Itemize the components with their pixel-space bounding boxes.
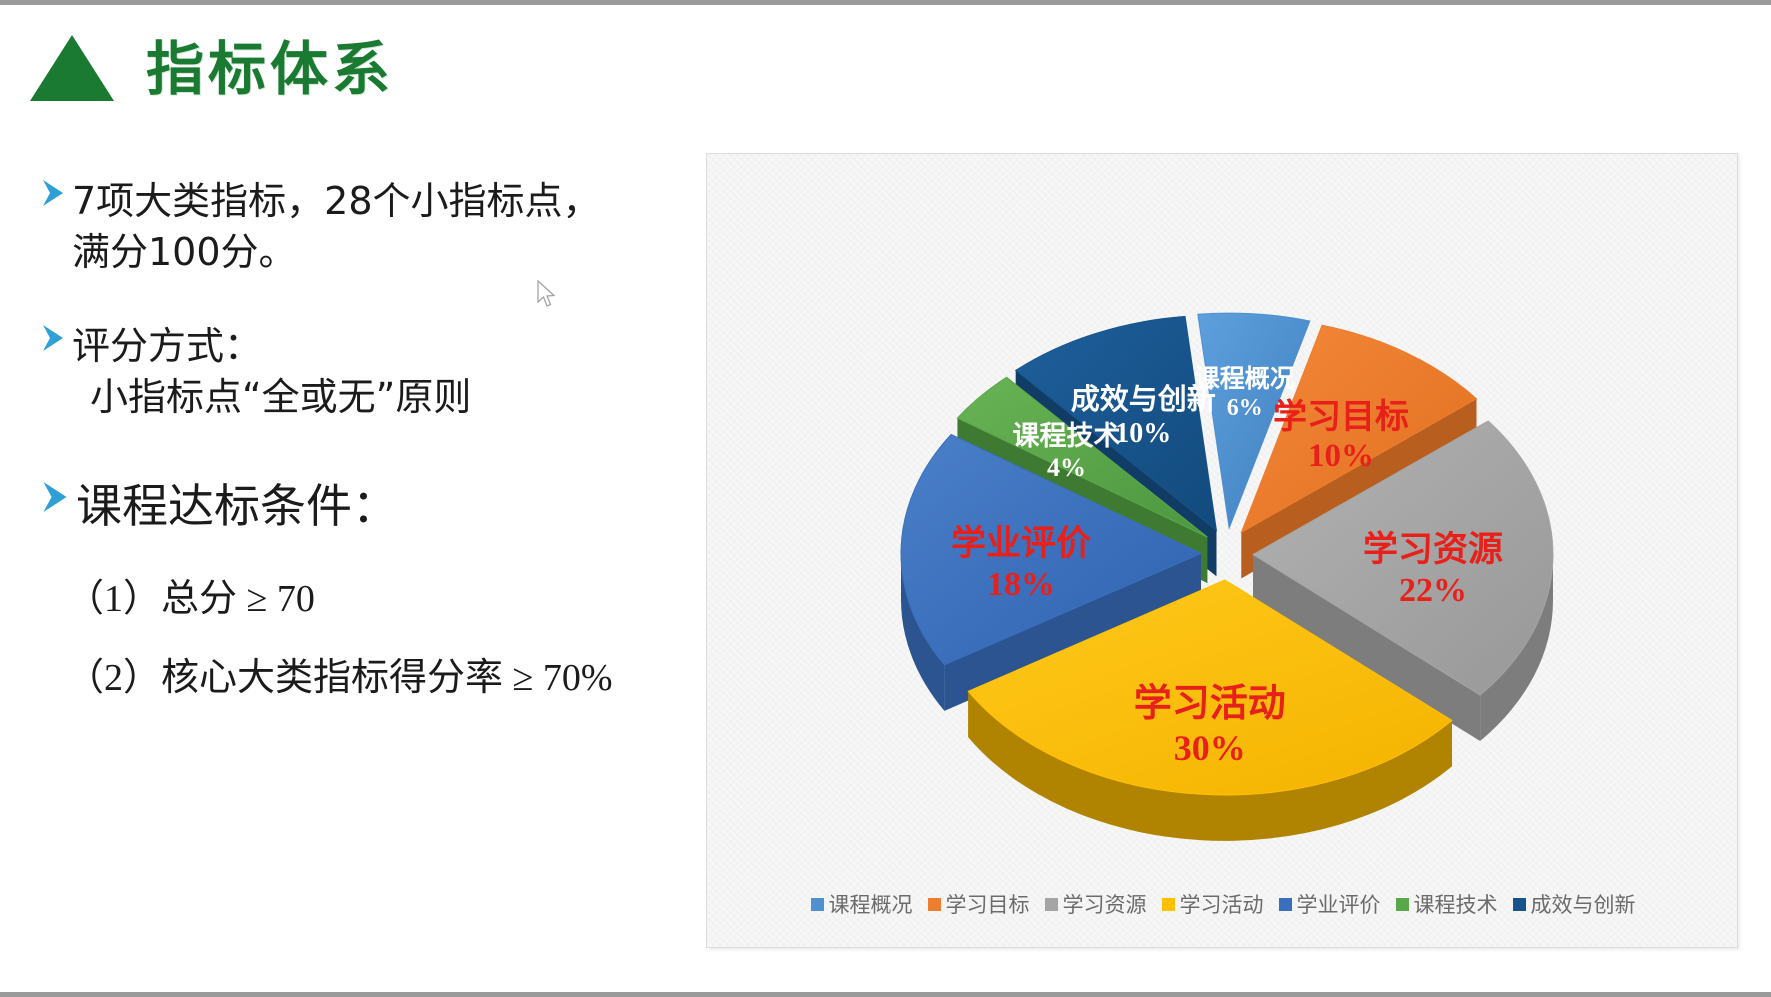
bullet-course-pass-conditions: 课程达标条件： bbox=[40, 477, 680, 537]
screen-edge-top bbox=[0, 0, 1771, 5]
bullet-line-2: 满分100分。 bbox=[72, 230, 297, 274]
pie-chart-panel: 成效与创新 10% 课程技术 4% 课程概况 6% 学习目标 10% 学习资源 … bbox=[706, 153, 1738, 948]
arrow-bullet-icon bbox=[40, 176, 66, 210]
legend-item-course-overview[interactable]: 课程概况 bbox=[811, 889, 913, 919]
legend-label: 学习目标 bbox=[946, 889, 1030, 919]
legend-swatch bbox=[1396, 898, 1409, 911]
chart-legend: 课程概况 学习目标 学习资源 学习活动 学业评价 课程技术 成效与创新 bbox=[707, 889, 1739, 919]
screen-edge-bottom bbox=[0, 992, 1771, 997]
slide-title-row: 指标体系 bbox=[30, 22, 394, 106]
legend-swatch bbox=[811, 898, 824, 911]
legend-swatch bbox=[1513, 898, 1526, 911]
page-title: 指标体系 bbox=[146, 22, 394, 106]
pie-chart-graphic bbox=[707, 154, 1739, 949]
slide-body-text: 7项大类指标，28个小指标点， 满分100分。 评分方式： 小指标点“全或无”原… bbox=[40, 176, 680, 701]
legend-swatch bbox=[1045, 898, 1058, 911]
legend-swatch bbox=[1162, 898, 1175, 911]
legend-item-effect-innovation[interactable]: 成效与创新 bbox=[1513, 889, 1636, 919]
condition-1: （1）总分 ≥ 70 bbox=[66, 567, 680, 622]
legend-label: 学习资源 bbox=[1063, 889, 1147, 919]
bullet-scoring-method: 评分方式： 小指标点“全或无”原则 bbox=[40, 321, 680, 424]
bullet-subline-1: 小指标点“全或无”原则 bbox=[90, 375, 471, 419]
condition-2: （2）核心大类指标得分率 ≥ 70% bbox=[66, 646, 680, 701]
triangle-icon bbox=[30, 35, 114, 101]
legend-item-academic-evaluation[interactable]: 学业评价 bbox=[1279, 889, 1381, 919]
arrow-bullet-icon bbox=[40, 321, 66, 355]
legend-label: 课程概况 bbox=[829, 889, 913, 919]
legend-label: 学业评价 bbox=[1297, 889, 1381, 919]
legend-swatch bbox=[1279, 898, 1292, 911]
legend-label: 学习活动 bbox=[1180, 889, 1264, 919]
bullet-line-1: 评分方式： bbox=[72, 324, 262, 368]
bullet-text: 评分方式： 小指标点“全或无”原则 bbox=[72, 321, 471, 424]
legend-item-learning-activity[interactable]: 学习活动 bbox=[1162, 889, 1264, 919]
legend-label: 课程技术 bbox=[1414, 889, 1498, 919]
bullet-line-1: 7项大类指标，28个小指标点， bbox=[72, 179, 601, 223]
legend-item-learning-goals[interactable]: 学习目标 bbox=[928, 889, 1030, 919]
mouse-cursor-icon bbox=[536, 280, 558, 315]
bullet-text: 7项大类指标，28个小指标点， 满分100分。 bbox=[72, 176, 601, 279]
legend-item-course-technology[interactable]: 课程技术 bbox=[1396, 889, 1498, 919]
bullet-text: 课程达标条件： bbox=[76, 477, 398, 537]
arrow-bullet-icon bbox=[40, 477, 70, 517]
legend-label: 成效与创新 bbox=[1531, 889, 1636, 919]
bullet-metrics-overview: 7项大类指标，28个小指标点， 满分100分。 bbox=[40, 176, 680, 279]
legend-item-learning-resources[interactable]: 学习资源 bbox=[1045, 889, 1147, 919]
legend-swatch bbox=[928, 898, 941, 911]
